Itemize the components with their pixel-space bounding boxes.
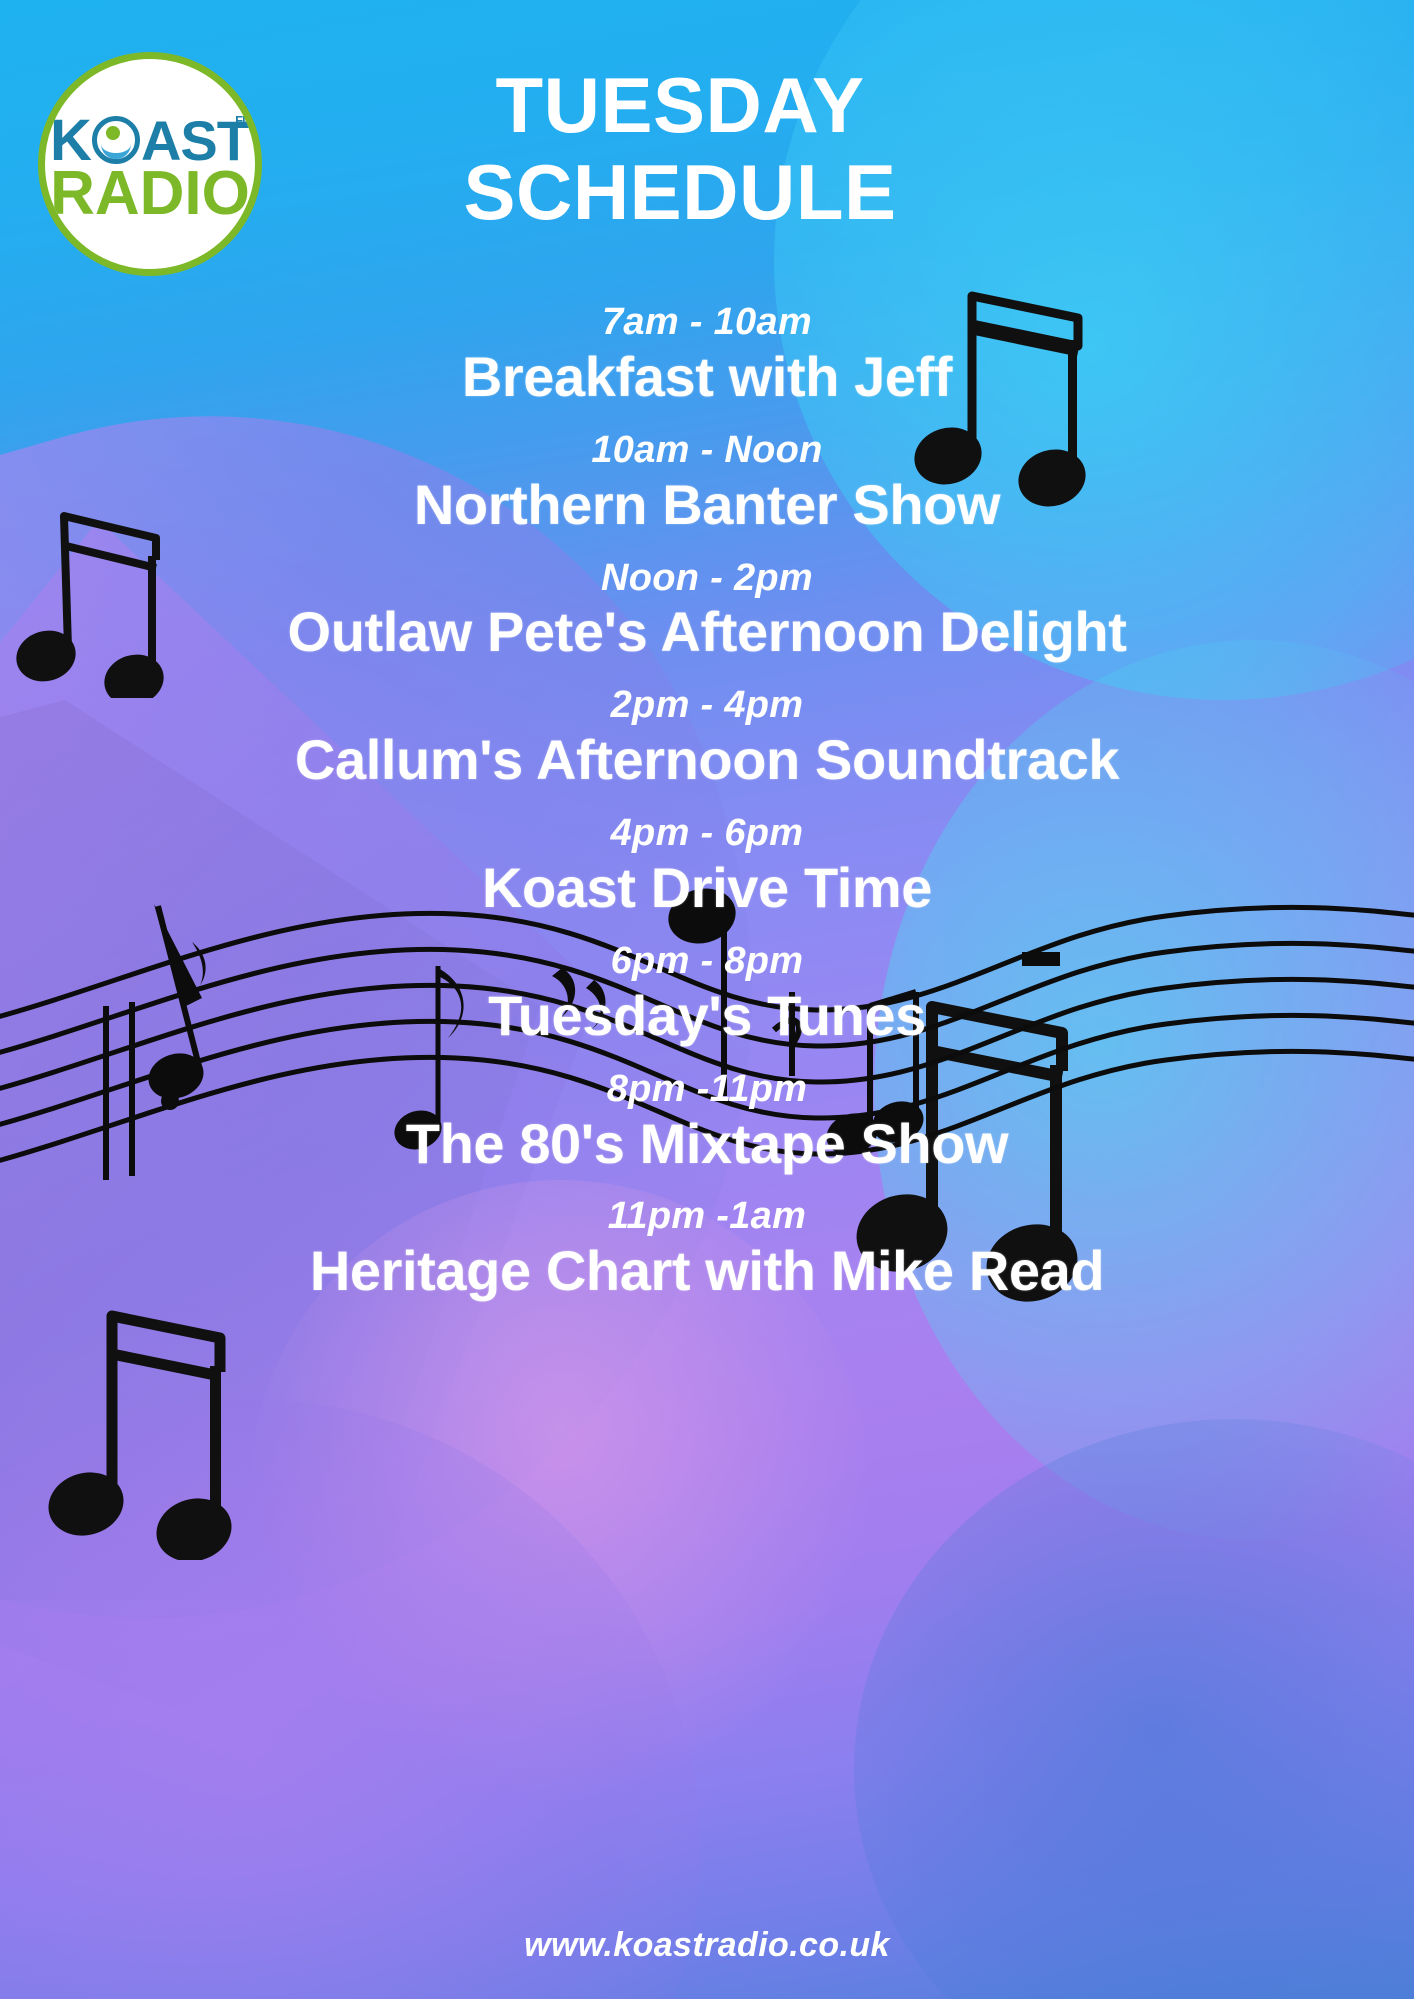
schedule-slot-time: 11pm -1am (0, 1194, 1414, 1239)
schedule-slot-time: 7am - 10am (0, 300, 1414, 345)
logo-wave-circle-icon (92, 116, 140, 164)
schedule-slot-show-name: Tuesday's Tunes (0, 984, 1414, 1049)
page-title-line-1: TUESDAY (300, 62, 1060, 149)
schedule-slot-show-name: Callum's Afternoon Soundtrack (0, 728, 1414, 793)
schedule-slot-show-name: Heritage Chart with Mike Read (0, 1239, 1414, 1304)
logo-wordmark-radio: RADIO (50, 166, 250, 222)
schedule-slot: 6pm - 8pmTuesday's Tunes (0, 939, 1414, 1049)
schedule-slot: 11pm -1amHeritage Chart with Mike Read (0, 1194, 1414, 1304)
schedule-slot-time: 6pm - 8pm (0, 939, 1414, 984)
page-title-line-2: SCHEDULE (300, 149, 1060, 236)
beamed-eighth-notes-bottom-left-icon (40, 1290, 240, 1560)
background-blob-purple-bottom-left (0, 1399, 700, 1999)
background-blob-blue-bottom-right (854, 1419, 1414, 1999)
schedule-slot-show-name: The 80's Mixtape Show (0, 1112, 1414, 1177)
schedule-slot: 10am - NoonNorthern Banter Show (0, 428, 1414, 538)
schedule-slot-time: 8pm -11pm (0, 1067, 1414, 1112)
schedule-slot-show-name: Breakfast with Jeff (0, 345, 1414, 410)
schedule-slot: 4pm - 6pmKoast Drive Time (0, 811, 1414, 921)
footer-website-url: www.koastradio.co.uk (0, 1926, 1414, 1965)
schedule-slot: 8pm -11pmThe 80's Mixtape Show (0, 1067, 1414, 1177)
schedule-list: 7am - 10amBreakfast with Jeff10am - Noon… (0, 300, 1414, 1322)
page-title: TUESDAY SCHEDULE (300, 62, 1060, 237)
logo-wordmark-koast: K AST .FM (50, 113, 250, 168)
logo-letter-k: K (50, 113, 91, 168)
koast-radio-logo: K AST .FM RADIO (38, 52, 262, 276)
logo-fm-mark: .FM (233, 115, 252, 127)
tuesday-schedule-poster: K AST .FM RADIO TUESDAY SCHEDULE 7am - 1… (0, 0, 1414, 1999)
schedule-slot: 7am - 10amBreakfast with Jeff (0, 300, 1414, 410)
schedule-slot-time: Noon - 2pm (0, 556, 1414, 601)
schedule-slot: 2pm - 4pmCallum's Afternoon Soundtrack (0, 683, 1414, 793)
schedule-slot: Noon - 2pmOutlaw Pete's Afternoon Deligh… (0, 556, 1414, 666)
schedule-slot-time: 4pm - 6pm (0, 811, 1414, 856)
schedule-slot-time: 2pm - 4pm (0, 683, 1414, 728)
schedule-slot-show-name: Koast Drive Time (0, 856, 1414, 921)
schedule-slot-show-name: Outlaw Pete's Afternoon Delight (0, 600, 1414, 665)
schedule-slot-time: 10am - Noon (0, 428, 1414, 473)
schedule-slot-show-name: Northern Banter Show (0, 473, 1414, 538)
